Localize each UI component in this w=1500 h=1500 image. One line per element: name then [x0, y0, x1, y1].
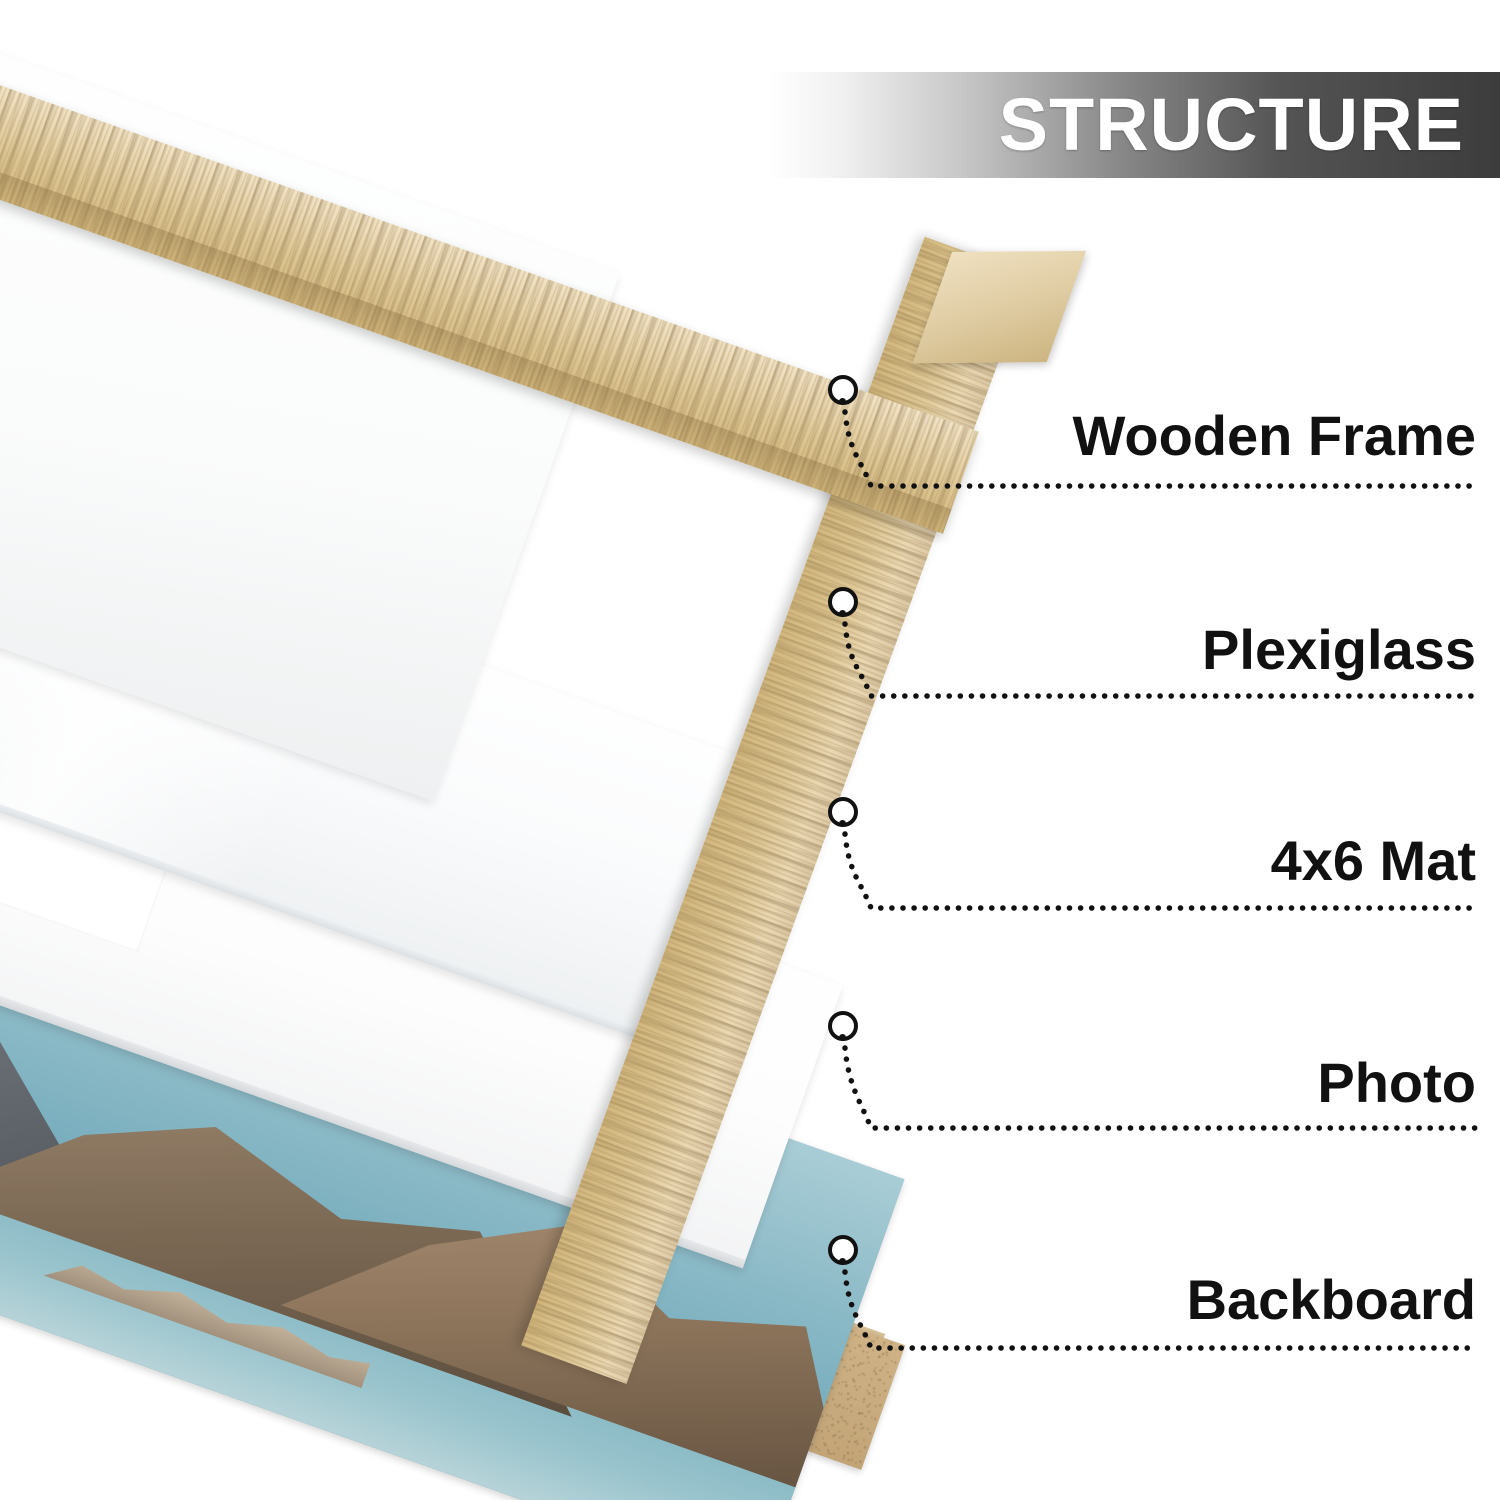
callout-marker-wooden-frame[interactable]: [828, 375, 858, 405]
structure-banner: STRUCTURE: [770, 72, 1500, 178]
callout-marker-photo[interactable]: [828, 1011, 858, 1041]
callout-marker-plexiglass[interactable]: [828, 587, 858, 617]
callout-label-wooden-frame: Wooden Frame: [1073, 408, 1476, 464]
callout-label-photo: Photo: [1317, 1055, 1476, 1111]
callout-label-mat: 4x6 Mat: [1271, 833, 1476, 889]
callout-marker-backboard[interactable]: [828, 1235, 858, 1265]
banner-title: STRUCTURE: [999, 88, 1500, 162]
product-structure-infographic: STRUCTURE Wooden FramePlexiglass4x6 MatP…: [0, 0, 1500, 1500]
callout-label-plexiglass: Plexiglass: [1202, 622, 1476, 678]
callout-label-backboard: Backboard: [1187, 1272, 1476, 1328]
callout-marker-mat[interactable]: [828, 797, 858, 827]
